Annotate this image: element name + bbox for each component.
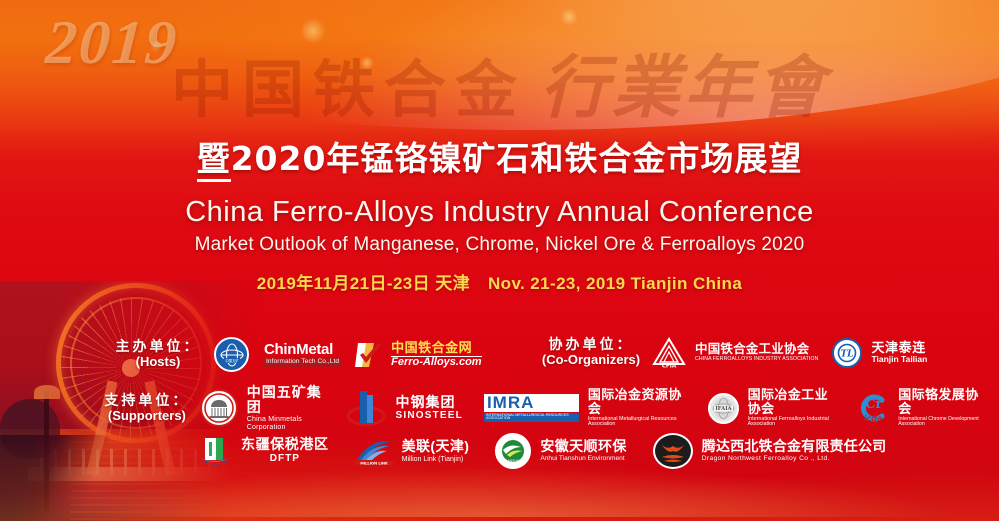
- ferro-alloys-url: Ferro-Alloys.com: [391, 356, 481, 369]
- logo-chinmetal-wordmark: ChinMetal Information Tech Co.,Ltd: [259, 342, 341, 368]
- logo-million-link: MILLION LINK 美联(天津) Million Link (Tianji…: [355, 436, 470, 466]
- svg-text:MILLION LINK: MILLION LINK: [360, 461, 388, 465]
- ifaia-globe-icon: IFAIA: [708, 393, 739, 424]
- logo-icda: Cr icda 国际铬发展协会 International Chrome Dev…: [856, 388, 985, 427]
- chinese-main-title: 中国铁合金行業年會: [171, 52, 828, 120]
- logo-ferro-alloys-com: 中国铁合金网 Ferro-Alloys.com: [355, 340, 481, 370]
- dftp-en: DFTP: [241, 454, 329, 465]
- tianshun-green-circle-icon: TIANSHUN: [495, 433, 531, 469]
- chinese-subtitle-rest: 2020年锰铬镍矿石和铁合金市场展望: [231, 139, 803, 178]
- ifaia-cn: 国际冶金工业协会: [748, 388, 837, 415]
- million-link-cn: 美联(天津): [402, 439, 470, 454]
- co-organizers-label-cn: 协办单位：: [536, 337, 646, 353]
- date-chinese: 2019年11月21日-23日 天津: [257, 274, 470, 293]
- hosts-label-en: (Hosts): [112, 355, 204, 370]
- million-link-swoosh-icon: MILLION LINK: [355, 436, 393, 466]
- logo-china-minmetals: 中国五矿集团 China Minmetals Corporation: [200, 385, 323, 431]
- co-organizers-label: 协办单位： (Co-Organizers): [536, 337, 646, 367]
- logo-cfia: CFIA 中国铁合金工业协会 CHINA FERROALLOYS INDUSTR…: [652, 337, 818, 368]
- supporters-label-en: (Supporters): [104, 409, 190, 424]
- tianshun-en: Anhui Tianshun Environment: [540, 456, 626, 463]
- supporters-label: 支持单位： (Supporters): [104, 393, 190, 423]
- minmetals-seal-icon: [200, 389, 238, 427]
- bokeh-dot: [560, 8, 578, 26]
- chinese-subtitle-underlined: 暨: [197, 139, 231, 182]
- sponsor-area: 主办单位： (Hosts) 中国五矿: [0, 337, 999, 499]
- imra-cn: 国际冶金资源协会: [588, 388, 688, 415]
- dftp-cn: 东疆保税港区: [241, 437, 329, 452]
- bokeh-dot: [300, 18, 326, 44]
- chinese-subtitle: 暨2020年锰铬镍矿石和铁合金市场展望: [0, 132, 999, 180]
- dragon-en: Dragon Northwest Ferroalloy Co ., Ltd.: [702, 456, 887, 463]
- ferro-alloys-cn: 中国铁合金网: [391, 341, 481, 355]
- tailian-cn: 天津泰连: [871, 341, 927, 355]
- chinese-title-text: 中国铁合金: [171, 51, 526, 124]
- co-organizers-label-en: (Co-Organizers): [536, 353, 646, 368]
- logo-ifaia: IFAIA 国际冶金工业协会 International Ferroalloys…: [708, 388, 837, 428]
- svg-text:CFIA: CFIA: [662, 364, 677, 369]
- triangle-icon: CFIA: [652, 337, 686, 368]
- logo-sinosteel: 中钢集团 SINOSTEEL: [346, 389, 462, 427]
- cfia-cn: 中国铁合金工业协会: [695, 343, 818, 356]
- sinosteel-tower-icon: [346, 389, 386, 427]
- english-subtitle: Market Outlook of Manganese, Chrome, Nic…: [0, 234, 999, 256]
- sinosteel-en: SINOSTEEL: [395, 411, 462, 422]
- imra-en: International Metallurgical Resources As…: [588, 417, 688, 428]
- tailian-en: Tianjin Tailian: [871, 355, 927, 364]
- co-organizers-row: 协办单位： (Co-Organizers) CFIA 中国铁合金工业协会 CHI…: [536, 337, 941, 368]
- logo-dragon-northwest: 腾达西北铁合金有限责任公司 Dragon Northwest Ferroallo…: [653, 433, 887, 469]
- ifaia-en: International Ferroalloys Industrial Ass…: [748, 417, 837, 428]
- logo-imra: IMRA INTERNATIONAL METALLURGICAL RESOURC…: [479, 388, 688, 428]
- logo-tianjin-tailian: TL 天津泰连 Tianjin Tailian: [832, 338, 927, 368]
- checkmark-icon: [355, 340, 383, 370]
- imra-mark-sub: INTERNATIONAL METALLURGICAL RESOURCES AS…: [484, 413, 579, 423]
- svg-text:中国五矿: 中国五矿: [225, 358, 239, 363]
- million-link-en: Million Link (Tianjin): [402, 456, 470, 463]
- tianshun-cn: 安徽天顺环保: [540, 439, 626, 454]
- chinmetal-name: ChinMetal: [264, 342, 341, 358]
- minmetals-cn: 中国五矿集团: [247, 385, 323, 414]
- hosts-row: 主办单位： (Hosts) 中国五矿: [112, 337, 496, 372]
- supporters-label-cn: 支持单位：: [104, 393, 190, 409]
- supporters-row-1: 支持单位： (Supporters): [104, 385, 999, 431]
- svg-text:icda: icda: [864, 414, 883, 423]
- logo-chinmetal-globe: 中国五矿: [214, 337, 249, 372]
- svg-text:TL: TL: [841, 349, 854, 359]
- svg-text:Cr: Cr: [865, 397, 882, 412]
- sinosteel-cn: 中钢集团: [395, 395, 462, 410]
- logo-anhui-tianshun: TIANSHUN 安徽天顺环保 Anhui Tianshun Environme…: [495, 433, 626, 469]
- supporters-row-2: 东疆保税港区 DFTP MILLION LINK 美联(天津): [198, 433, 900, 469]
- english-title: China Ferro-Alloys Industry Annual Confe…: [0, 196, 999, 229]
- title-block: 中国铁合金行業年會 暨2020年锰铬镍矿石和铁合金市场展望 China Ferr…: [0, 52, 999, 294]
- cfia-en: CHINA FERROALLOYS INDUSTRY ASSOCIATION: [695, 357, 818, 362]
- globe-icon: 中国五矿: [214, 337, 249, 372]
- dragon-cn: 腾达西北铁合金有限责任公司: [702, 439, 887, 454]
- svg-text:TIANSHUN: TIANSHUN: [504, 459, 523, 463]
- logo-dftp: 东疆保税港区 DFTP: [198, 434, 329, 468]
- icda-cn: 国际铬发展协会: [898, 388, 985, 415]
- conference-banner: 2019 中国铁合金行業年會 暨2020年锰铬镍矿石和铁合金市场展望 China…: [0, 0, 999, 521]
- dftp-sail-icon: [198, 434, 232, 468]
- icda-en: International Chrome Development Associa…: [898, 417, 985, 428]
- dragon-bird-oval-icon: [653, 433, 693, 469]
- minmetals-en: China Minmetals Corporation: [247, 416, 323, 431]
- svg-text:IFAIA: IFAIA: [715, 406, 732, 412]
- chinese-calligraphy-text: 行業年會: [540, 48, 828, 124]
- hosts-label: 主办单位： (Hosts): [112, 339, 204, 369]
- chinmetal-tagline: Information Tech Co.,Ltd: [264, 358, 341, 367]
- tl-circle-icon: TL: [832, 338, 862, 368]
- icda-cr-icon: Cr icda: [856, 391, 890, 425]
- imra-mark: IMRA: [484, 394, 579, 412]
- date-location-line: 2019年11月21日-23日 天津Nov. 21-23, 2019 Tianj…: [0, 269, 999, 294]
- date-english: Nov. 21-23, 2019 Tianjin China: [488, 274, 742, 293]
- hosts-label-cn: 主办单位：: [112, 339, 204, 355]
